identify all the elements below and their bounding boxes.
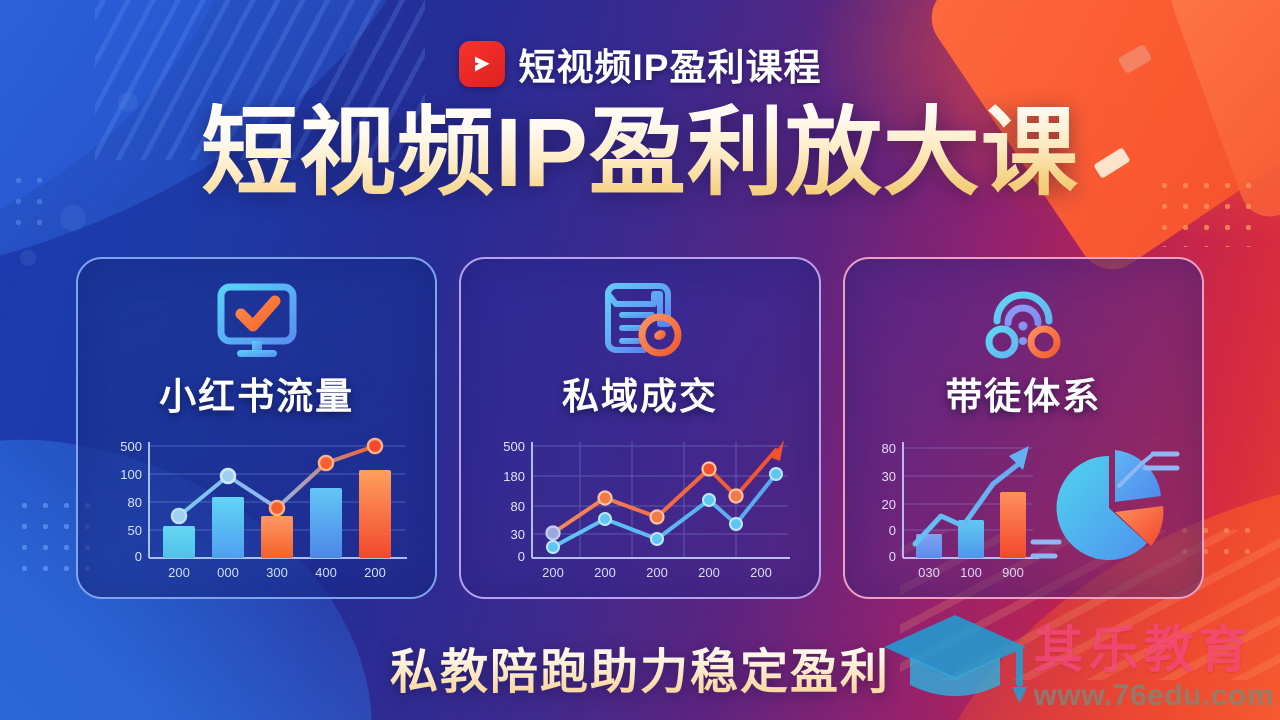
monitor-check-icon xyxy=(78,281,435,363)
ytick-label: 0 xyxy=(518,549,525,564)
graduation-cap-icon xyxy=(880,607,1030,712)
watermark-text: 其乐教育 www.76edu.com xyxy=(1034,625,1274,715)
feature-card-xiaohongshu[interactable]: 小红书流量 xyxy=(76,257,437,599)
xtick-label: 900 xyxy=(1002,565,1024,580)
network-share-icon xyxy=(845,281,1202,363)
chart-xiaohongshu: 500 100 80 50 0 xyxy=(78,434,435,589)
xtick-label: 100 xyxy=(960,565,982,580)
xtick-label: 000 xyxy=(217,565,239,580)
feature-card-title: 带徒体系 xyxy=(845,366,1202,420)
pie-chart xyxy=(1033,450,1177,560)
ytick-label: 0 xyxy=(889,523,896,538)
ytick-label: 0 xyxy=(889,549,896,564)
xtick-label: 400 xyxy=(315,565,337,580)
ytick-label: 30 xyxy=(511,527,525,542)
xtick-label: 200 xyxy=(646,565,668,580)
poster-canvas: 短视频IP盈利课程 短视频IP盈利放大课 xyxy=(0,0,1280,720)
feature-card-mentorship[interactable]: 带徒体系 xyxy=(843,257,1204,599)
chart-mentorship: 80 30 20 0 0 030 100 900 xyxy=(845,434,1202,589)
play-badge-icon xyxy=(459,41,505,87)
watermark: 其乐教育 www.76edu.com xyxy=(880,607,1274,714)
xtick-label: 030 xyxy=(918,565,940,580)
xtick-label: 300 xyxy=(266,565,288,580)
background-bokeh-1 xyxy=(60,205,86,231)
feature-card-title: 私域成交 xyxy=(461,366,818,420)
ytick-label: 80 xyxy=(882,441,896,456)
watermark-url: www.76edu.com xyxy=(1034,677,1274,715)
ytick-label: 500 xyxy=(503,439,525,454)
xtick-label: 200 xyxy=(364,565,386,580)
header-subtitle-row: 短视频IP盈利课程 xyxy=(0,37,1280,91)
background-bokeh-2 xyxy=(20,250,36,266)
feature-card-title: 小红书流量 xyxy=(78,366,435,420)
header-subtitle: 短视频IP盈利课程 xyxy=(519,37,822,91)
xtick-label: 200 xyxy=(750,565,772,580)
ytick-label: 100 xyxy=(120,467,142,482)
feature-card-private-domain[interactable]: 私域成交 xyxy=(459,257,820,599)
ytick-label: 80 xyxy=(511,499,525,514)
xtick-label: 200 xyxy=(698,565,720,580)
ytick-label: 180 xyxy=(503,469,525,484)
watermark-brand: 其乐教育 xyxy=(1034,625,1254,675)
xtick-label: 200 xyxy=(594,565,616,580)
ytick-label: 50 xyxy=(127,523,141,538)
ytick-label: 30 xyxy=(882,469,896,484)
xtick-label: 200 xyxy=(168,565,190,580)
ytick-label: 80 xyxy=(127,495,141,510)
ytick-label: 20 xyxy=(882,497,896,512)
page-title: 短视频IP盈利放大课 xyxy=(0,103,1280,203)
feature-card-row: 小红书流量 xyxy=(76,257,1204,599)
ytick-label: 500 xyxy=(120,439,142,454)
chart-private-domain: 500 180 80 30 0 xyxy=(461,434,818,589)
ytick-label: 0 xyxy=(134,549,141,564)
document-target-icon xyxy=(461,281,818,363)
xtick-label: 200 xyxy=(542,565,564,580)
